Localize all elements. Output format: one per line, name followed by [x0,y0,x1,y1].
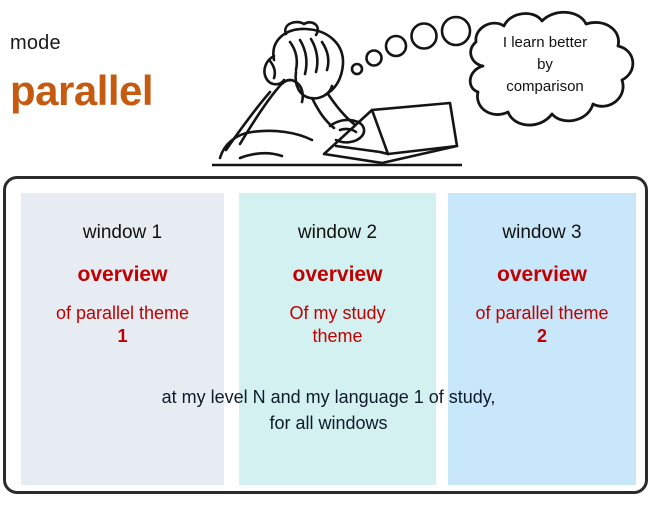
window-panel-2[interactable]: window 2 overview Of my study theme [239,193,436,485]
slide-canvas: mode parallel [0,0,656,514]
window-1-title: window 1 [21,223,224,242]
windows-panel-group: window 1 overview of parallel theme 1 wi… [6,179,645,491]
mode-label: mode [10,33,61,53]
thought-bubble-line-1: I learn better [460,32,630,54]
window-3-overview-label: overview [448,264,636,285]
window-panel-1[interactable]: window 1 overview of parallel theme 1 [21,193,224,485]
window-2-theme-number: theme [239,325,436,348]
window-3-theme-number: 2 [448,325,636,348]
window-3-theme-line: of parallel theme [448,302,636,325]
thought-bubble-line-2: by [460,54,630,76]
thought-bubble-text: I learn better by comparison [460,32,630,97]
mode-title: parallel [10,70,153,112]
window-1-overview-label: overview [21,264,224,285]
window-2-title: window 2 [239,223,436,242]
window-2-theme-line: Of my study [239,302,436,325]
window-2-overview-label: overview [239,264,436,285]
window-panel-3[interactable]: window 3 overview of parallel theme 2 [448,193,636,485]
window-1-theme-line: of parallel theme [21,302,224,325]
thought-bubble-line-3: comparison [460,76,630,98]
windows-frame: window 1 overview of parallel theme 1 wi… [3,176,648,494]
window-1-theme-number: 1 [21,325,224,348]
window-3-title: window 3 [448,223,636,242]
